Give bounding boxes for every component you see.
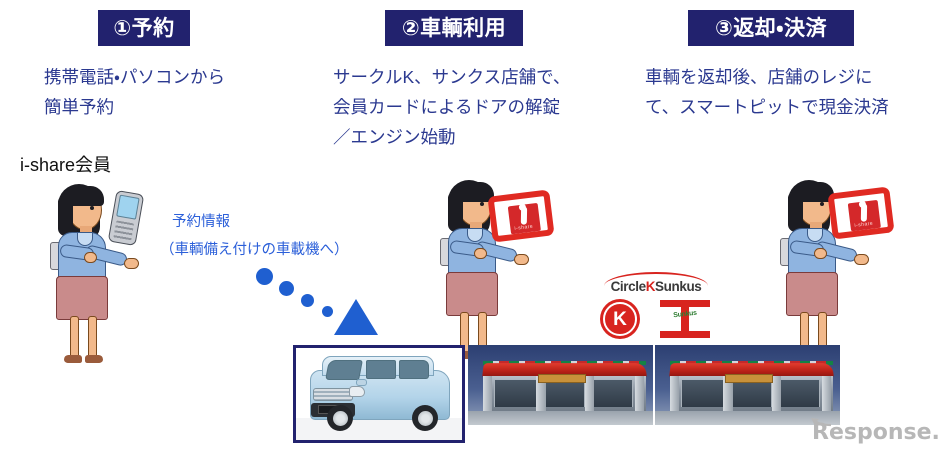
store-signboard xyxy=(725,374,773,384)
brand-wordmark-suffix: Sunkus xyxy=(655,279,701,294)
person-skirt xyxy=(446,272,498,316)
flow-dot-4 xyxy=(322,306,333,317)
step-badge-3: ③返却・決済 xyxy=(688,10,854,46)
store-window xyxy=(494,380,537,406)
store-window xyxy=(777,380,820,406)
watermark-arrow-icon xyxy=(810,417,832,427)
person-hand-far xyxy=(854,254,869,265)
diagram-canvas: ①予約 ②車輌利用 ③返却・決済 携帯電話・パソコンから 簡単予約 サークルK、… xyxy=(0,0,939,452)
flow-dot-2 xyxy=(279,281,294,296)
reservation-info-detail: （車輌備え付けの車載機へ） xyxy=(160,237,349,263)
id-card-logo-word: i-share xyxy=(514,224,533,232)
step-badge-1: ①予約 xyxy=(98,10,190,46)
car-wheel-front xyxy=(327,405,353,431)
store-window xyxy=(729,380,772,406)
step-badge-2: ②車輌利用 xyxy=(385,10,523,46)
sunkus-logo-icon: Sunkus xyxy=(660,300,710,338)
store-pillar xyxy=(483,376,492,413)
phone-keypad xyxy=(113,220,134,241)
circlek-logo-icon: K xyxy=(600,299,640,339)
person-hand-far xyxy=(124,258,139,269)
person-shoe-left xyxy=(64,355,82,363)
store-signboard xyxy=(538,374,586,384)
person-eye xyxy=(480,202,484,206)
store-window xyxy=(542,380,585,406)
person-eye xyxy=(820,202,824,206)
step-description-1: 携帯電話・パソコンから 簡単予約 xyxy=(44,62,324,122)
store-photo-1 xyxy=(468,345,653,425)
id-card-icon: i-share xyxy=(827,186,894,239)
person-hair-side xyxy=(788,192,803,232)
id-card-logo: i-share xyxy=(508,203,541,234)
member-label: i-share会員 xyxy=(20,151,111,177)
store-window xyxy=(681,380,724,406)
brand-wordmark-k: K xyxy=(646,279,655,294)
response-watermark: Response. xyxy=(812,420,939,446)
circlek-logo-letter: K xyxy=(603,302,637,336)
brand-wordmark: CircleKSunkus xyxy=(596,279,716,294)
person-hand-near xyxy=(814,248,827,259)
sunkus-bar-bottom xyxy=(660,331,710,338)
car-window-mid xyxy=(366,360,396,379)
car-wheel-rear xyxy=(412,405,438,431)
car-wheel-hub xyxy=(333,411,348,426)
circlek-sunkus-brand: CircleKSunkus K Sunkus xyxy=(596,272,716,340)
arrow-head-icon xyxy=(334,299,378,335)
person-leg-right xyxy=(88,316,97,358)
flow-dot-3 xyxy=(301,294,314,307)
person-skirt xyxy=(786,272,838,316)
person-shoe-right xyxy=(85,355,103,363)
car-headlight xyxy=(349,386,365,397)
store-pillar xyxy=(670,376,679,413)
flow-dot-1 xyxy=(256,268,273,285)
step-description-2: サークルK、サンクス店舗で、 会員カードによるドアの解錠 ／エンジン始動 xyxy=(333,62,633,152)
vehicle-photo xyxy=(293,345,465,443)
car-windshield xyxy=(325,360,363,380)
id-card-icon: i-share xyxy=(487,189,554,242)
car-grille xyxy=(313,388,353,401)
car-window-rear xyxy=(399,360,429,379)
person-leg-left xyxy=(70,316,79,358)
person-hand-near xyxy=(84,252,97,263)
id-card-logo-word: i-share xyxy=(854,221,873,229)
car-wheel-hub xyxy=(418,411,433,426)
store-pillar xyxy=(635,376,644,413)
person-hair-side xyxy=(448,192,463,232)
store-pillar xyxy=(822,376,831,413)
reservation-info-label: 予約情報 xyxy=(172,209,230,235)
store-ground xyxy=(468,411,653,425)
car-side-mirror xyxy=(356,379,367,386)
store-window xyxy=(590,380,633,406)
person-skirt xyxy=(56,276,108,320)
id-card-logo-figure xyxy=(521,207,527,225)
step-description-3: 車輌を返却後、店舗のレジに て、スマートピットで現金決済 xyxy=(645,62,939,122)
person-eye xyxy=(90,206,94,210)
id-card-logo: i-share xyxy=(848,200,881,231)
id-card-logo-figure xyxy=(861,204,867,222)
brand-wordmark-prefix: Circle xyxy=(611,279,646,294)
person-hand-near xyxy=(474,248,487,259)
person-hair-side xyxy=(58,196,73,236)
store-photo-2 xyxy=(655,345,840,425)
phone-screen xyxy=(116,195,140,220)
person-hand-far xyxy=(514,254,529,265)
